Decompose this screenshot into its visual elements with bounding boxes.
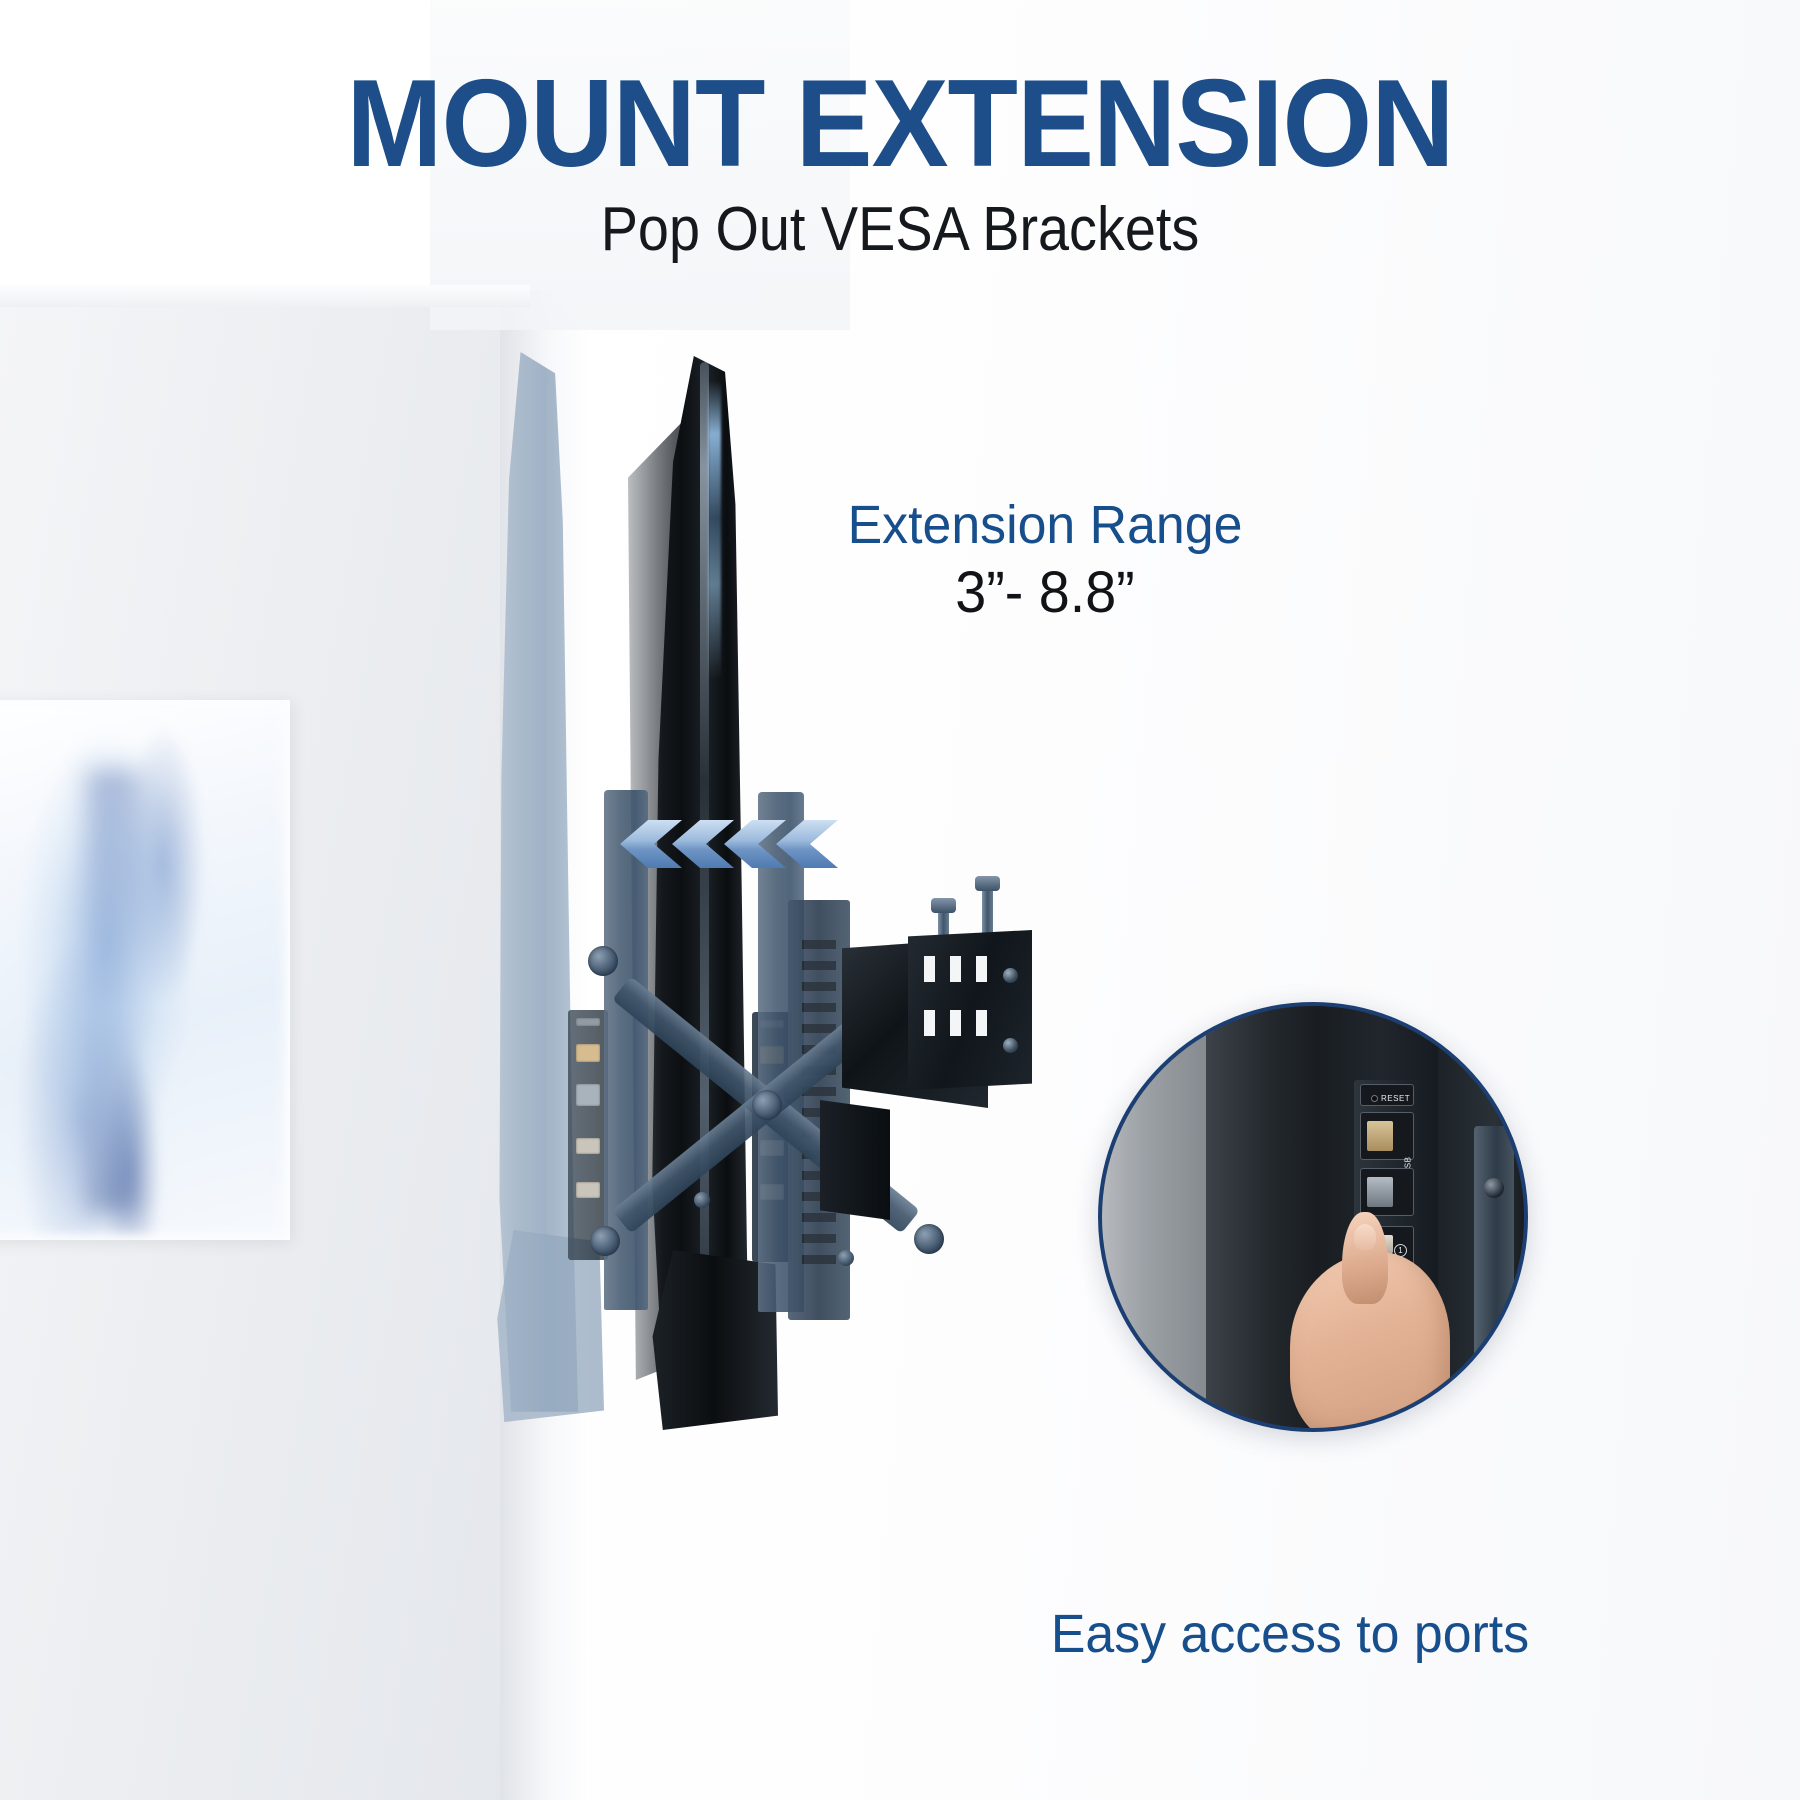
ceiling-band [0, 285, 530, 307]
framed-artwork [0, 700, 290, 1240]
vesa-screw-lower [1003, 1038, 1018, 1053]
inset-mount-rail [1474, 1126, 1514, 1426]
ghost-hdmi2-port [576, 1182, 600, 1198]
scissor-pivot-bottom-left [590, 1226, 620, 1256]
mount-screw-b [838, 1250, 854, 1266]
mount-knob-icon [1484, 1178, 1504, 1198]
tv-specular-highlight [708, 380, 721, 680]
inset-reset-label: RESET [1381, 1094, 1410, 1103]
inset-reset-port: RESET [1360, 1084, 1414, 1106]
port-detail-inset: RESET USB 1 2 HDMI [1098, 1002, 1528, 1432]
usb-connector-icon [1367, 1121, 1393, 1151]
product-marketing-image: MOUNT EXTENSION Pop Out VESA Brackets [0, 0, 1800, 1800]
fingernail [1354, 1224, 1376, 1250]
reset-pinhole-icon [1371, 1095, 1378, 1102]
ports-caption: Easy access to ports [1021, 1603, 1559, 1665]
ghost-usb-port [576, 1044, 600, 1062]
index-finger-tip [1342, 1212, 1388, 1304]
vesa-bracket-plate [908, 930, 1032, 1090]
vesa-lower-tab [820, 1100, 890, 1220]
vesa-hole-pattern [924, 956, 998, 1064]
scissor-pivot-bottom-right [914, 1224, 944, 1254]
ghost-reset-port [576, 1018, 600, 1026]
artwork-canvas [0, 706, 284, 1234]
page-subtitle: Pop Out VESA Brackets [90, 196, 1710, 264]
inset-lan-port [1360, 1168, 1414, 1216]
inset-usb-port: USB [1360, 1112, 1414, 1160]
scissor-center-pivot [752, 1090, 782, 1120]
extension-direction-arrows [596, 818, 826, 870]
extension-range-callout: Extension Range 3”- 8.8” [835, 496, 1255, 625]
ghost-lan-port [576, 1084, 600, 1106]
ethernet-connector-icon [1367, 1177, 1393, 1207]
mount-screw-a [694, 1192, 710, 1208]
ghost-hdmi1-port [576, 1138, 600, 1154]
extension-range-value: 3”- 8.8” [843, 562, 1246, 625]
scissor-pivot-top-left [588, 946, 618, 976]
inset-tv-bezel [1102, 1006, 1214, 1428]
extension-range-label: Extension Range [843, 496, 1246, 554]
page-title: MOUNT EXTENSION [63, 62, 1737, 186]
vesa-screw-upper [1003, 968, 1018, 983]
